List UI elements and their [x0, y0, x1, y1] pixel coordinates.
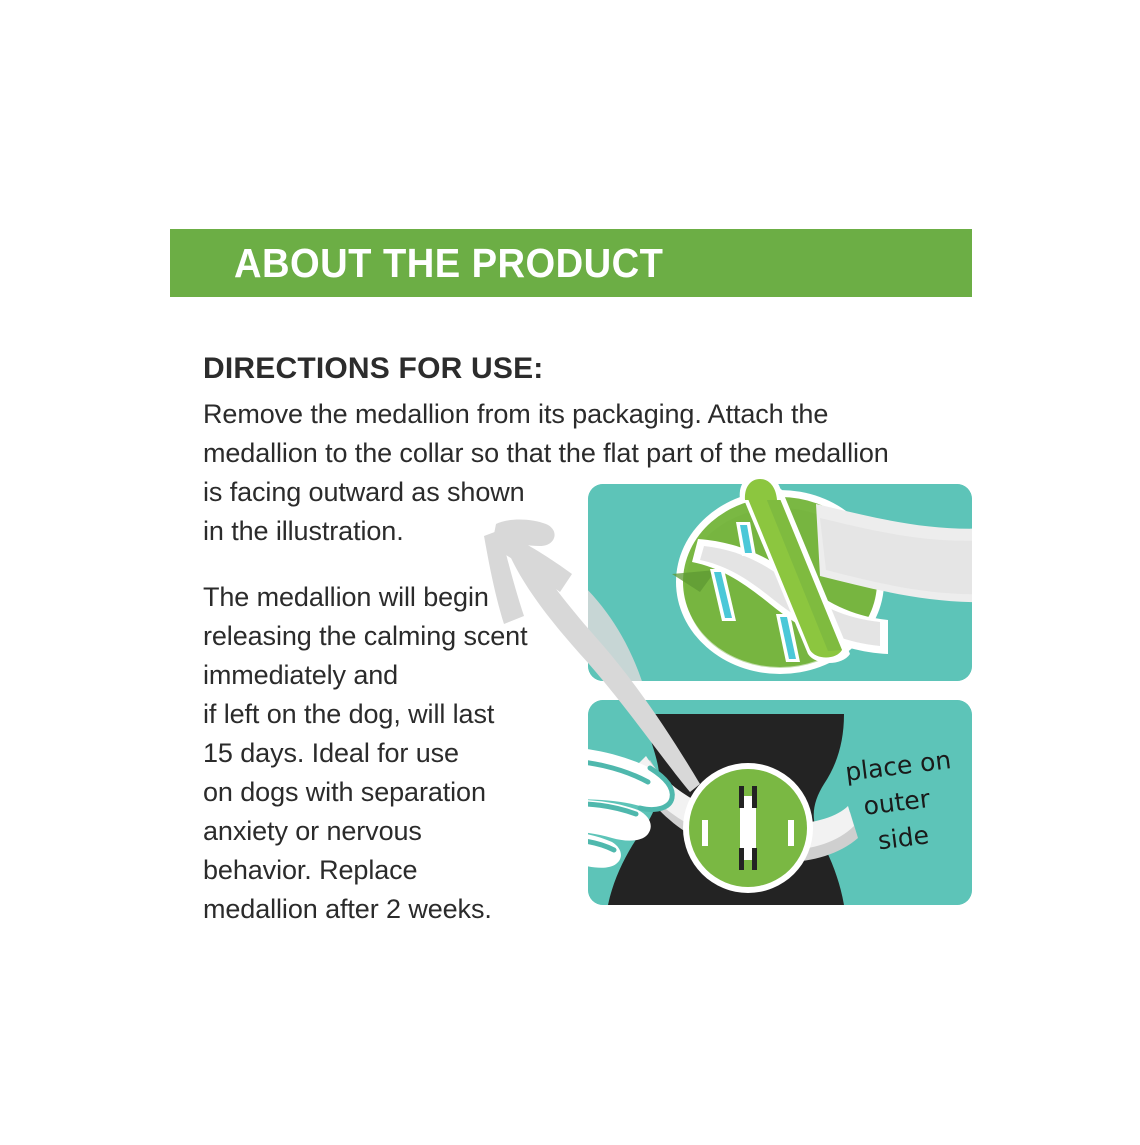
banner-title: ABOUT THE PRODUCT [234, 243, 663, 284]
illustration-panel-attach-medallion [588, 484, 972, 681]
illustration-panel-dog-collar: place on outer side [588, 700, 972, 905]
callout-line-3: side [876, 820, 930, 855]
product-info-graphic: ABOUT THE PRODUCT DIRECTIONS FOR USE: Re… [0, 0, 1140, 1140]
directions-for-use-heading: DIRECTIONS FOR USE: [203, 352, 543, 386]
collar-medallion [683, 763, 813, 893]
attach-medallion-illustration [588, 484, 972, 681]
about-the-product-banner: ABOUT THE PRODUCT [170, 229, 972, 297]
directions-paragraph-2: The medallion will begin releasing the c… [203, 578, 583, 929]
dog-collar-illustration: place on outer side [588, 700, 972, 905]
